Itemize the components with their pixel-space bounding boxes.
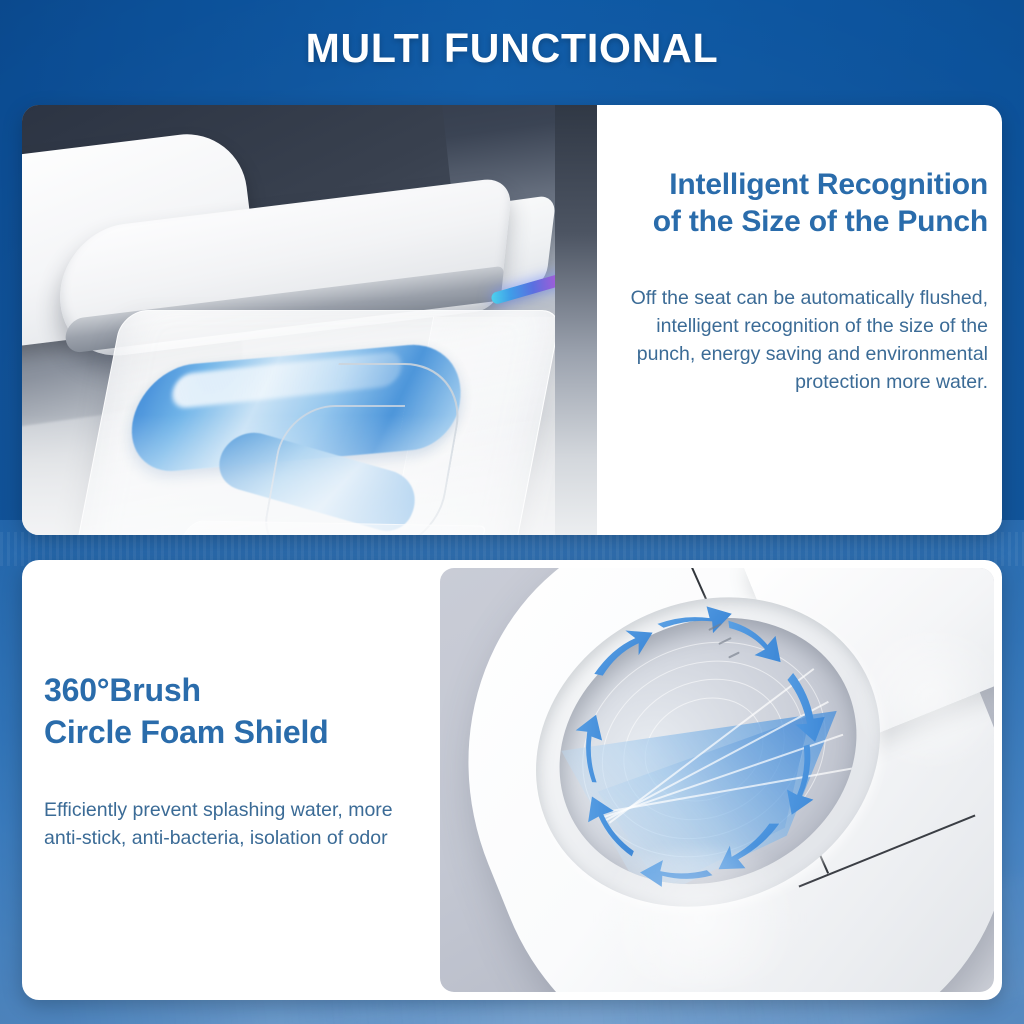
feature-card-circle-foam-shield: 360°Brush Circle Foam Shield Efficiently… [22,560,1002,1000]
feature-text-panel-bottom: 360°Brush Circle Foam Shield Efficiently… [22,560,432,1000]
feature-image-toilet-cutaway [22,105,597,535]
banner-title: MULTI FUNCTIONAL [0,25,1024,72]
feature-heading-bottom: 360°Brush Circle Foam Shield [44,670,412,753]
feature-heading-line2: Circle Foam Shield [44,714,328,750]
floor-highlight [22,415,597,535]
feature-heading-line1: Intelligent Recognition [669,168,988,201]
feature-image-bowl-topview [440,568,994,992]
feature-body-top: Off the seat can be automatically flushe… [617,284,988,396]
feature-heading-line1: 360°Brush [44,672,201,708]
infographic-page: MULTI FUNCTIONAL [0,0,1024,1024]
feature-heading-line2: of the Size of the Punch [653,205,988,238]
feature-heading-top: Intelligent Recognition of the Size of t… [617,167,988,240]
feature-text-panel-top: Intelligent Recognition of the Size of t… [597,105,1002,535]
feature-image-wrapper-bowl [432,560,1002,1000]
feature-card-intelligent-recognition: Intelligent Recognition of the Size of t… [22,105,1002,535]
photo-edge-fade [555,105,597,535]
feature-body-bottom: Efficiently prevent splashing water, mor… [44,797,412,852]
